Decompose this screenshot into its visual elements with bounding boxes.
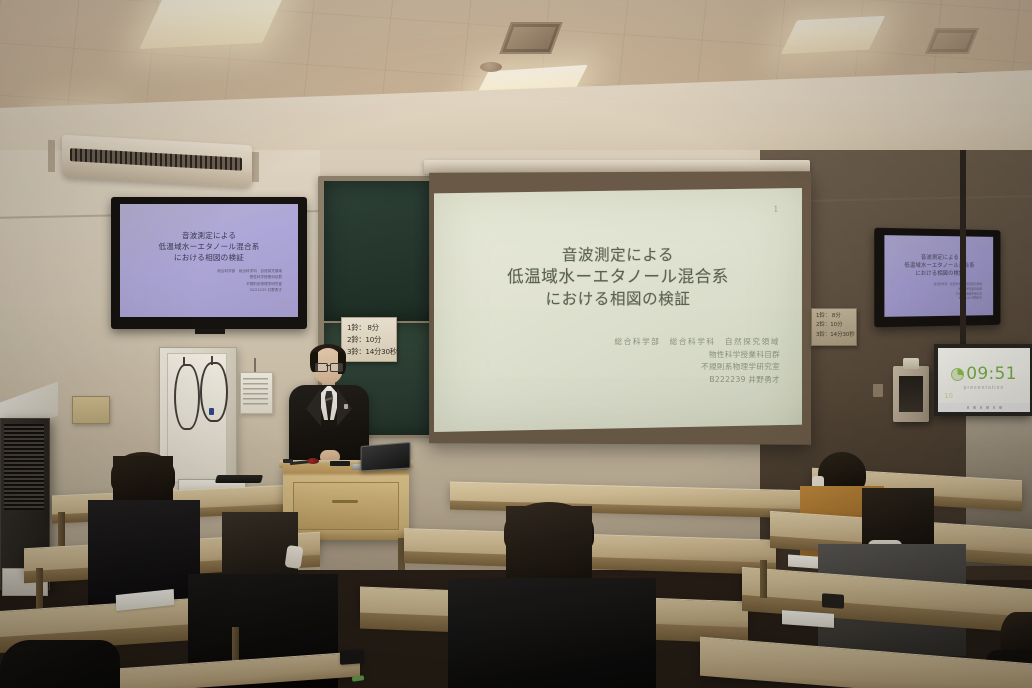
affiliation-line-4: B222239 井野勇才 <box>434 374 780 387</box>
ceiling-speaker <box>480 62 502 72</box>
door-edge <box>960 150 966 350</box>
right-monitor-title: 音波測定による 低温域水ーエタノール混合系 における相図の検証 <box>884 253 993 278</box>
left-monitor-title-line-3: における相図の検証 <box>120 252 298 263</box>
face-mask <box>285 545 304 569</box>
left-monitor-title-line-1: 音波測定による <box>120 230 298 241</box>
lecture-hall-scene: 1鈴： 8分 2鈴：10分 3鈴：14分30秒 1 音波測定による 低温域水ーエ… <box>0 0 1032 688</box>
wall-mounted-box <box>72 396 110 424</box>
desk-leg <box>36 568 43 608</box>
microphone-icon[interactable] <box>307 458 319 464</box>
ac-bracket <box>48 140 55 172</box>
toolbar-dot-icon <box>973 406 976 409</box>
right-monitor-aff-4: B222239 井野勇才 <box>884 296 982 302</box>
timer-corner-value: 10 <box>944 392 953 400</box>
rack-grille <box>4 424 44 510</box>
desk-leg <box>760 560 767 598</box>
bell-timing-sign-right: 1鈴： 8分 2鈴：10分 3鈴：14分30秒 <box>811 308 857 346</box>
slide-title-line-2: 低温域水ーエタノール混合系 <box>434 266 802 288</box>
desk-smartphone[interactable] <box>340 649 364 665</box>
timer-toolbar[interactable] <box>938 403 1030 412</box>
projection-screen: 1 音波測定による 低温域水ーエタノール混合系 における相図の検証 総合科学部 … <box>434 188 802 432</box>
pie-progress-icon <box>951 368 964 381</box>
blackboard-upper-panel <box>324 181 438 321</box>
coiled-cable <box>200 362 228 422</box>
right-monitor-title-line-3: における相図の検証 <box>884 270 993 278</box>
bell-timing-sign: 1鈴： 8分 2鈴：10分 3鈴：14分30秒 <box>341 317 397 362</box>
laptop-screen[interactable] <box>361 442 411 472</box>
toolbar-dot-icon <box>993 406 996 409</box>
toolbar-dot-icon <box>967 406 970 409</box>
ac-bracket <box>252 152 259 182</box>
affiliation-line-1: 総合科学部 総合科学科 自然探究領域 <box>434 336 780 349</box>
affiliation-line-2: 物性科学授業科目群 <box>434 349 780 362</box>
bell-right-line-3: 3鈴：14分30秒 <box>816 331 854 340</box>
right-wall-monitor-screen: 音波測定による 低温域水ーエタノール混合系 における相図の検証 総合科学部 総合… <box>884 235 993 317</box>
desk-leg <box>58 512 65 546</box>
cable-tag <box>209 408 214 415</box>
podium-front-panel <box>293 482 399 530</box>
bell-right-line-1: 1鈴： 8分 <box>816 312 854 321</box>
bell-line-2: 2鈴：10分 <box>347 334 393 346</box>
presentation-timer-screen[interactable]: 09:51 presentation 10 <box>938 348 1030 412</box>
desk-paper <box>782 610 834 628</box>
glasses-icon <box>330 363 343 372</box>
bell-line-3: 3鈴：14分30秒 <box>347 346 393 358</box>
slide-title: 音波測定による 低温域水ーエタノール混合系 における相図の検証 <box>434 244 802 310</box>
bell-line-1: 1鈴： 8分 <box>347 322 393 334</box>
toolbar-dot-icon <box>986 406 989 409</box>
timer-label: presentation <box>938 385 1030 391</box>
dispenser-window <box>899 376 923 412</box>
timer-value: 09:51 <box>966 366 1017 383</box>
name-badge <box>344 404 348 409</box>
glasses-bridge <box>326 365 330 366</box>
cart-top-device <box>215 475 263 483</box>
slide-title-line-1: 音波測定による <box>434 244 802 266</box>
audience-center-near-body <box>448 578 656 688</box>
timer-row: 09:51 <box>938 366 1030 383</box>
left-monitor-stand <box>195 329 225 334</box>
podium-pen[interactable] <box>283 459 293 463</box>
left-monitor-title-line-2: 低温域水ーエタノール混合系 <box>120 241 298 252</box>
slide-title-line-3: における相図の検証 <box>434 288 802 310</box>
audience-bottom-left-shoulder <box>0 640 120 688</box>
affiliation-line-3: 不規則系物理学研究室 <box>434 361 780 374</box>
toolbar-dot-icon <box>980 406 983 409</box>
poster-text-lines <box>243 378 268 406</box>
right-monitor-title-line-2: 低温域水ーエタノール混合系 <box>884 262 993 270</box>
podium-handle[interactable] <box>332 500 358 503</box>
bell-right-line-2: 2鈴：10分 <box>816 321 854 330</box>
left-monitor-title: 音波測定による 低温域水ーエタノール混合系 における相図の検証 <box>120 230 298 263</box>
dispenser-cup <box>903 358 919 369</box>
podium-remote[interactable] <box>330 461 350 466</box>
desk-marker[interactable] <box>352 675 365 682</box>
left-monitor-aff-4: B222239 井野勇才 <box>120 287 282 293</box>
left-wall-monitor-screen: 音波測定による 低温域水ーエタノール混合系 における相図の検証 総合科学部 総合… <box>120 204 298 317</box>
desk-smartphone[interactable] <box>822 593 844 609</box>
slide-affiliation: 総合科学部 総合科学科 自然探究領域 物性科学授業科目群 不規則系物理学研究室 … <box>434 336 802 386</box>
ac-grille <box>70 148 242 171</box>
left-monitor-affiliation: 総合科学部 総合科学科 自然探究領域 物性科学授業科目群 不規則系物理学研究室 … <box>120 268 298 294</box>
toolbar-dot-icon <box>999 406 1002 409</box>
coiled-cable <box>174 364 200 430</box>
slide-number: 1 <box>774 204 779 214</box>
wall-switch-plate[interactable] <box>873 384 883 397</box>
right-monitor-affiliation: 総合科学部 総合科学科 自然探究領域 物性科学授業科目群 不規則系物理学研究室 … <box>884 282 993 302</box>
poster-hanger <box>254 358 256 373</box>
